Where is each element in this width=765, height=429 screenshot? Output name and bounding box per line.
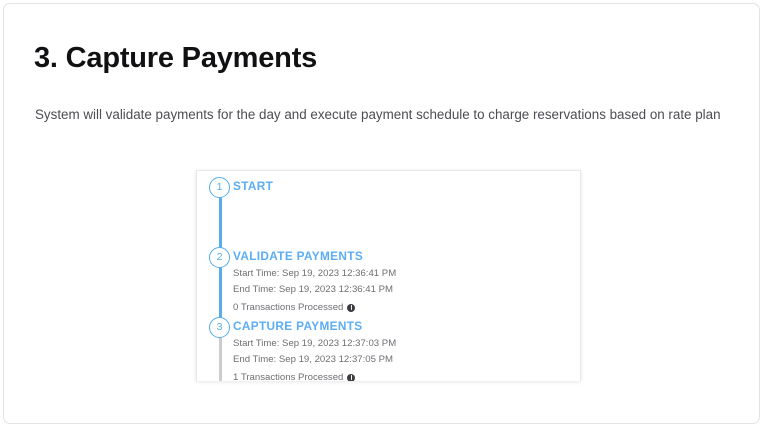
page-description: System will validate payments for the da… — [35, 104, 725, 125]
step-start-time-validate-payments: Start Time: Sep 19, 2023 12:36:41 PM — [233, 266, 572, 282]
timeline-track: 1 START 2 VALIDATE PAYMENTS Start Time: … — [197, 171, 580, 381]
step-transactions-label-capture-payments: 1 Transactions Processed — [233, 370, 343, 381]
step-end-time-capture-payments: End Time: Sep 19, 2023 12:37:05 PM — [233, 352, 572, 368]
step-marker-3: 3 — [209, 317, 230, 338]
step-transactions-validate-payments: 0 Transactions Processed — [233, 300, 572, 316]
page-title: 3. Capture Payments — [34, 42, 317, 75]
step-body-capture-payments: CAPTURE PAYMENTS Start Time: Sep 19, 202… — [233, 317, 572, 381]
step-title-start: START — [233, 177, 572, 196]
step-marker-2: 2 — [209, 247, 230, 268]
step-start-time-capture-payments: Start Time: Sep 19, 2023 12:37:03 PM — [233, 336, 572, 352]
step-title-validate-payments: VALIDATE PAYMENTS — [233, 247, 572, 266]
info-icon[interactable] — [347, 304, 355, 312]
step-body-start: START — [233, 177, 572, 196]
page-card: 3. Capture Payments System will validate… — [3, 3, 760, 424]
timeline-panel: 1 START 2 VALIDATE PAYMENTS Start Time: … — [196, 170, 581, 381]
step-transactions-label-validate-payments: 0 Transactions Processed — [233, 300, 343, 316]
step-marker-1: 1 — [209, 177, 230, 198]
step-end-time-validate-payments: End Time: Sep 19, 2023 12:36:41 PM — [233, 282, 572, 298]
info-icon[interactable] — [347, 374, 355, 381]
step-transactions-capture-payments: 1 Transactions Processed — [233, 370, 572, 381]
step-body-validate-payments: VALIDATE PAYMENTS Start Time: Sep 19, 20… — [233, 247, 572, 316]
step-title-capture-payments: CAPTURE PAYMENTS — [233, 317, 572, 336]
timeline-rail-pending — [219, 337, 222, 381]
